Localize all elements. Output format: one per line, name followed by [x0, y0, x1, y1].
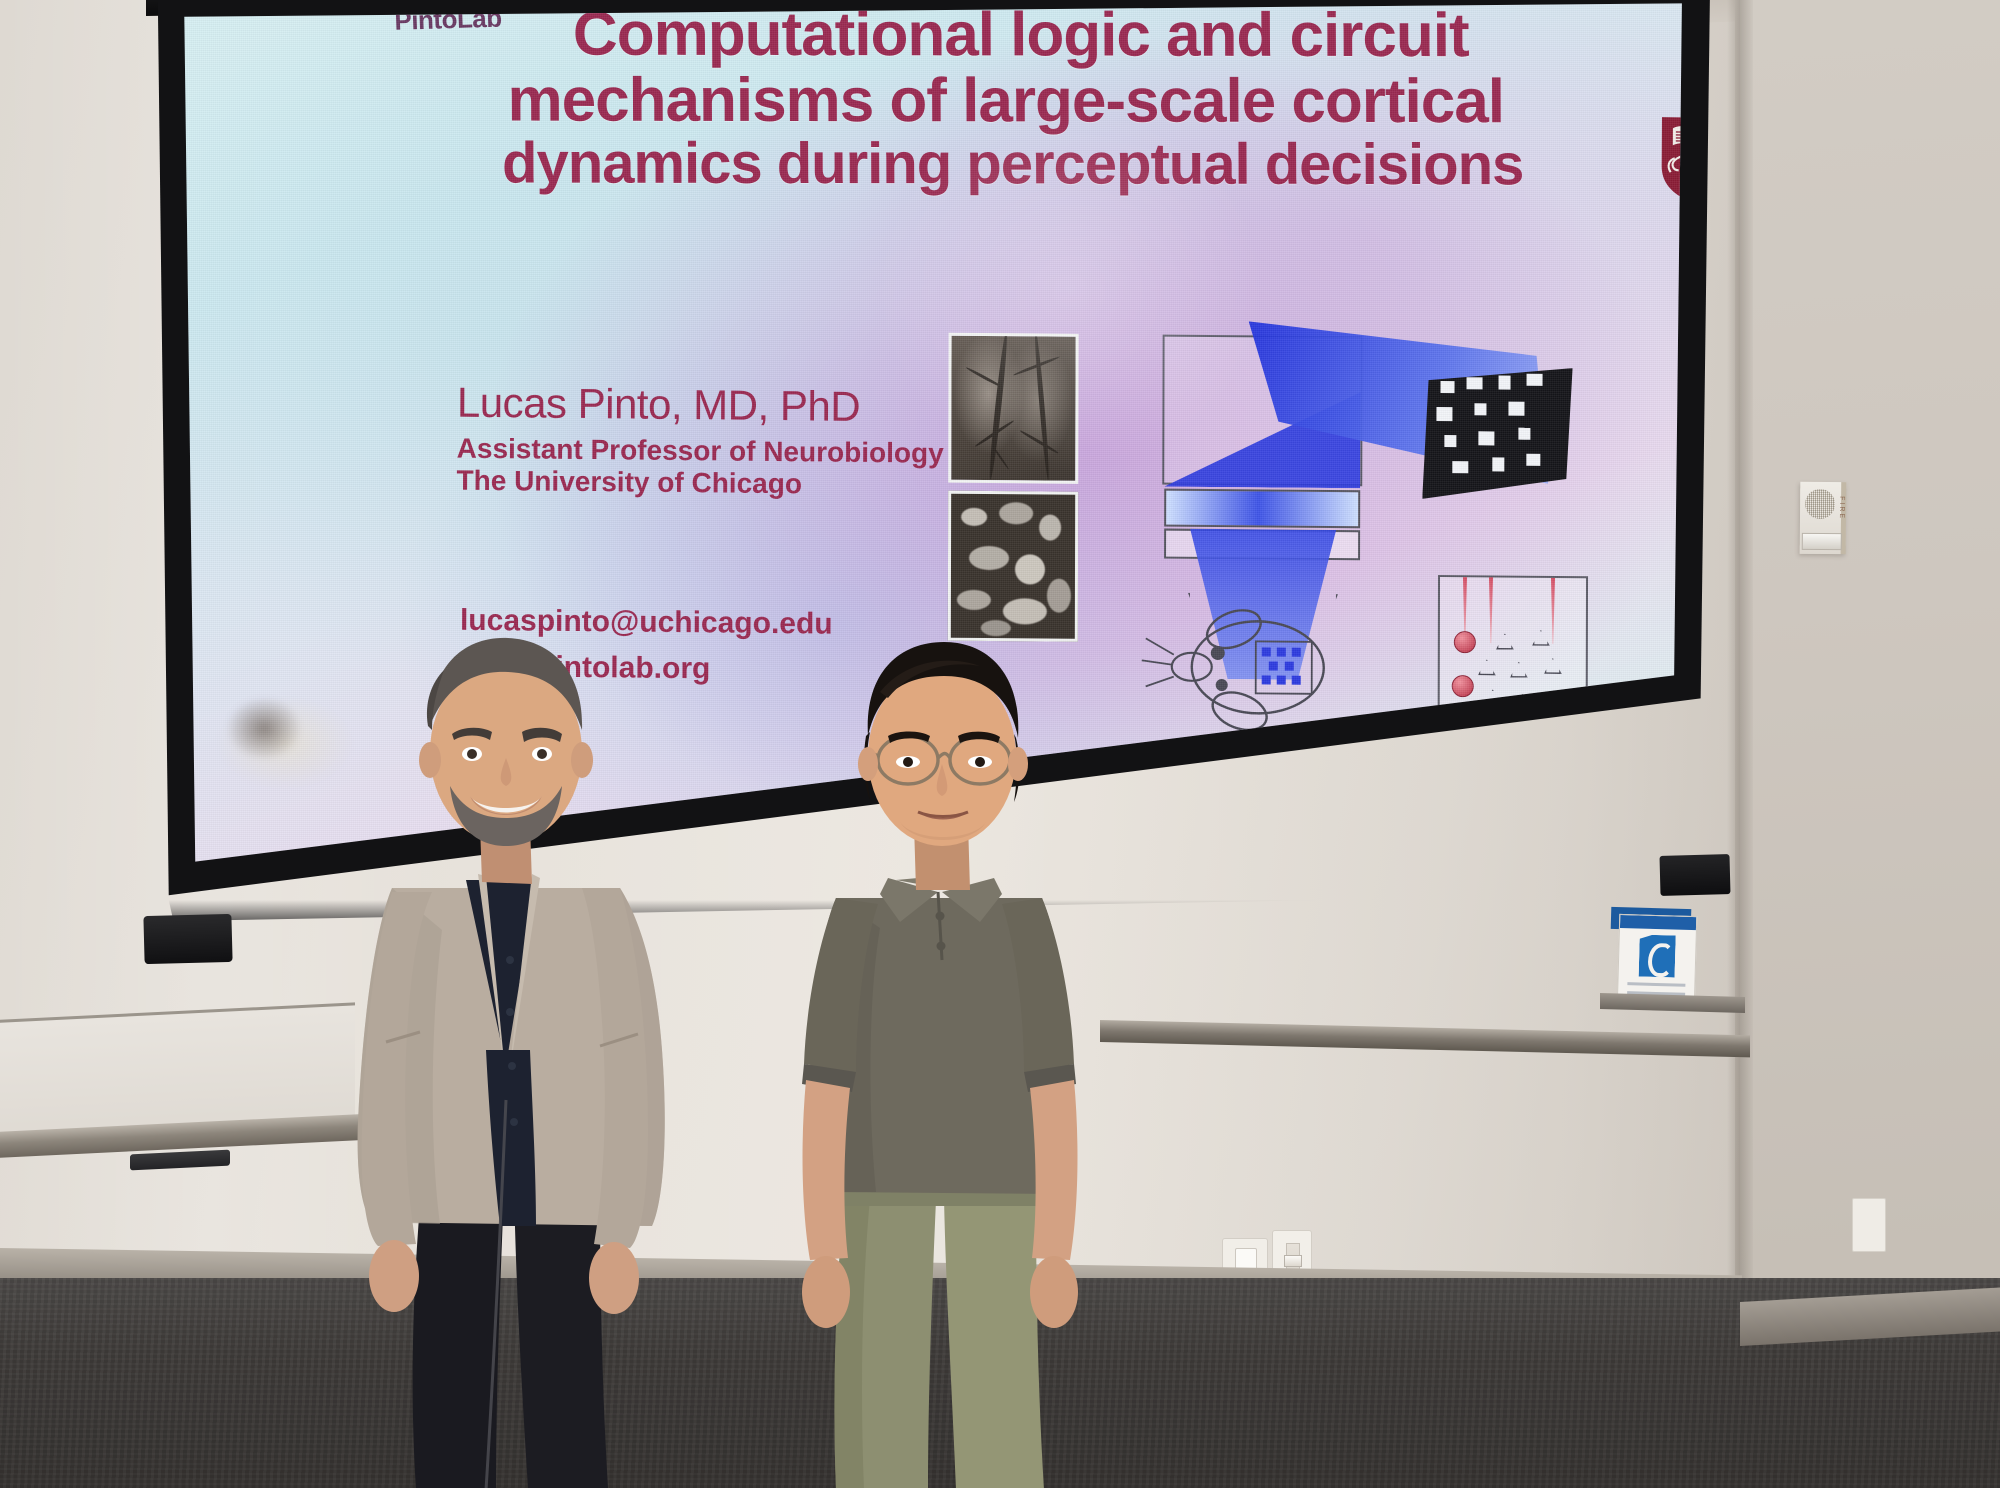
person-right-figure-wrap: [740, 640, 1160, 1488]
dimmer-knob[interactable]: [1284, 1255, 1302, 1267]
cortical-vasculature-photo: [948, 333, 1078, 484]
objective-band-upper: [1164, 489, 1360, 529]
presenter-name: Lucas Pinto, MD, PhD: [457, 379, 944, 432]
widefield-calcium-imaging: [948, 491, 1078, 642]
lecture-room-scene: PintoLab: [0, 0, 2000, 1488]
speaker-grille-icon: [1805, 489, 1835, 519]
presenter-affiliation-2: The University of Chicago: [456, 465, 943, 502]
person-right-figure: [740, 640, 1160, 1488]
strobe-lens: [1802, 533, 1842, 550]
handout-text-line: [1627, 982, 1685, 987]
handout-header-bar: [1620, 915, 1696, 930]
screen-endcap-right: [1659, 854, 1730, 896]
wall-corner-shadow: [1727, 0, 1753, 1330]
dmd-micromirror-array: [1422, 367, 1572, 500]
screen-endcap-left: [143, 914, 232, 964]
slide-title: Computational logic and circuit mechanis…: [440, 0, 1603, 200]
presenter-affiliation-1: Assistant Professor of Neurobiology: [457, 433, 944, 470]
fire-alarm-label: FIRE: [1838, 496, 1845, 520]
title-line-3: dynamics during perceptual decisions: [433, 133, 1593, 196]
person-presenter-left: [300, 630, 770, 1488]
presenter-block: Lucas Pinto, MD, PhD Assistant Professor…: [456, 379, 944, 502]
person-left-figure: [300, 630, 770, 1488]
title-line-2: mechanisms of large-scale cortical: [426, 67, 1586, 135]
fire-alarm-strobe: FIRE: [1800, 482, 1847, 554]
accessibility-icon: [1639, 935, 1676, 978]
wall-blank-plate: [1852, 1198, 1886, 1252]
wall-right: [1735, 0, 2000, 1330]
